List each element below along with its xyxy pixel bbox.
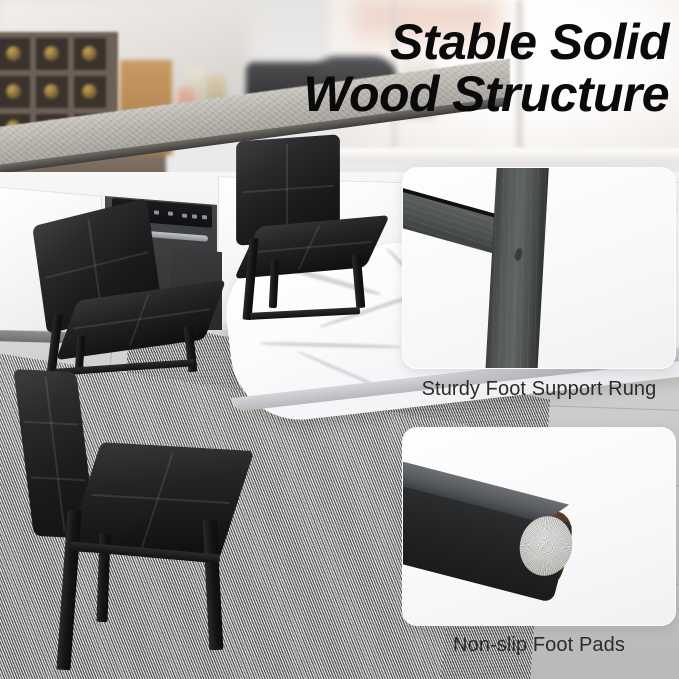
feature-panel-foot-support-rung: [403, 168, 675, 368]
headline: Stable Solid Wood Structure: [149, 16, 669, 120]
headline-line-2: Wood Structure: [149, 68, 669, 120]
headline-line-1: Stable Solid: [149, 16, 669, 68]
feature-panel-foot-pads: [403, 428, 675, 625]
product-feature-image: Stable Solid Wood Structure Sturdy Foot …: [0, 0, 679, 679]
window-sill: [330, 148, 679, 162]
caption-foot-support-rung: Sturdy Foot Support Rung: [403, 378, 675, 401]
caption-foot-pads: Non-slip Foot Pads: [403, 634, 675, 657]
